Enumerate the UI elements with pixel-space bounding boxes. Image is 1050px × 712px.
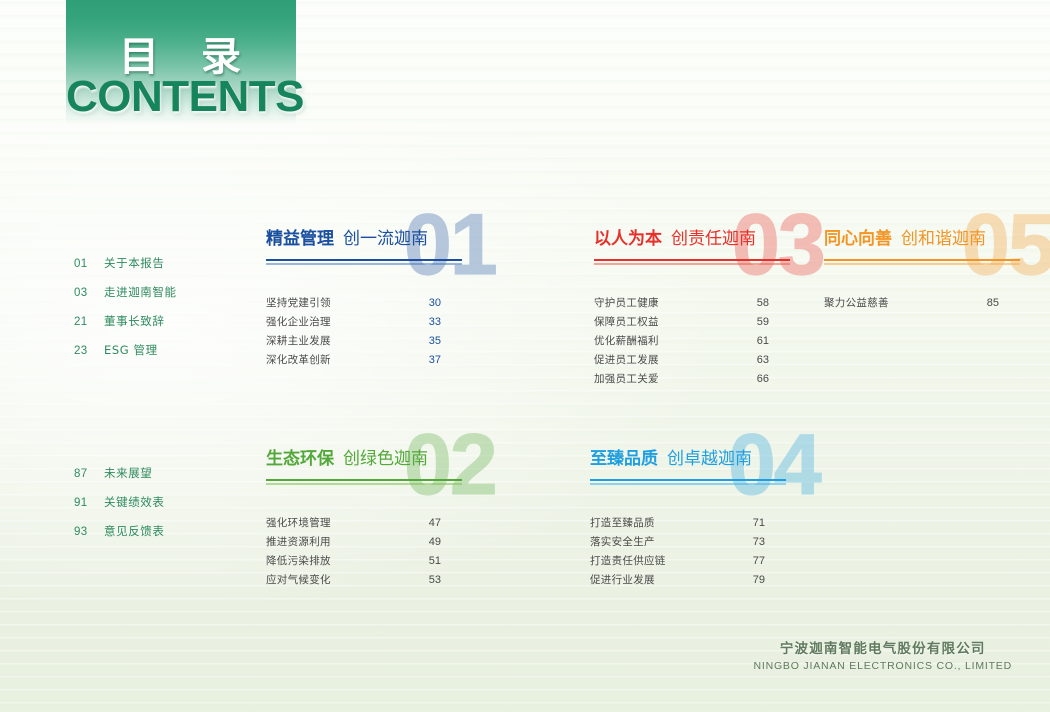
section-block-03: 03以人为本创责任迦南守护员工健康58保障员工权益59优化薪酬福利61促进员工发… [594,230,790,390]
toc-entry[interactable]: 87未来展望 [74,465,165,494]
section-item-page: 85 [965,297,999,309]
section-item-list: 聚力公益慈善85 [824,295,1020,314]
section-divider [594,259,790,265]
section-item-page: 63 [735,354,769,366]
section-item-page: 58 [735,297,769,309]
section-item[interactable]: 深化改革创新37 [266,352,441,371]
section-divider-line-top [824,259,1020,261]
toc-entry-page: 01 [74,258,104,270]
section-item-label: 坚持党建引领 [266,295,407,310]
section-divider-line-top [266,479,462,481]
section-item-page: 30 [407,297,441,309]
section-item[interactable]: 强化企业治理33 [266,314,441,333]
section-item-label: 促进行业发展 [590,572,731,587]
section-item-page: 33 [407,316,441,328]
section-item-label: 落实安全生产 [590,534,731,549]
section-item[interactable]: 聚力公益慈善85 [824,295,999,314]
section-divider-line-top [590,479,786,481]
section-item-label: 深化改革创新 [266,352,407,367]
section-block-02: 02生态环保创绿色迦南强化环境管理47推进资源利用49降低污染排放51应对气候变… [266,450,462,591]
section-item[interactable]: 坚持党建引领30 [266,295,441,314]
toc-entry-page: 21 [74,316,104,328]
section-item-list: 坚持党建引领30强化企业治理33深耕主业发展35深化改革创新37 [266,295,462,371]
section-item-page: 77 [731,555,765,567]
section-divider [824,259,1020,265]
section-item-label: 守护员工健康 [594,295,735,310]
section-divider-line-bottom [590,483,786,485]
section-item-page: 66 [735,373,769,385]
section-item-page: 59 [735,316,769,328]
section-block-01: 01精益管理创一流迦南坚持党建引领30强化企业治理33深耕主业发展35深化改革创… [266,230,462,371]
section-item-list: 强化环境管理47推进资源利用49降低污染排放51应对气候变化53 [266,515,462,591]
section-divider [590,479,786,485]
section-divider-line-top [266,259,462,261]
section-divider-line-top [594,259,790,261]
footer-company-cn: 宁波迦南智能电气股份有限公司 [753,637,1012,657]
section-item-page: 35 [407,335,441,347]
toc-entry[interactable]: 03走进迦南智能 [74,284,177,313]
section-item-page: 37 [407,354,441,366]
section-item-label: 深耕主业发展 [266,333,407,348]
section-block-05: 05同心向善创和谐迦南聚力公益慈善85 [824,230,1020,314]
toc-entry-label: 关键绩效表 [104,494,165,510]
toc-entry-label: ESG 管理 [104,342,158,358]
section-item[interactable]: 保障员工权益59 [594,314,769,333]
section-heading: 同心向善创和谐迦南 [824,230,1020,249]
toc-entry-label: 未来展望 [104,465,152,481]
section-heading: 生态环保创绿色迦南 [266,450,462,469]
section-block-04: 04至臻品质创卓越迦南打造至臻品质71落实安全生产73打造责任供应链77促进行业… [590,450,786,591]
section-item-label: 聚力公益慈善 [824,295,965,310]
section-divider-line-bottom [824,263,1020,265]
section-divider [266,479,462,485]
section-heading-lead: 至臻品质 [590,449,658,469]
section-item-label: 打造责任供应链 [590,553,731,568]
section-item-label: 推进资源利用 [266,534,407,549]
section-heading: 以人为本创责任迦南 [594,230,790,249]
section-item[interactable]: 促进行业发展79 [590,572,765,591]
section-heading-tail: 创责任迦南 [671,229,756,249]
toc-entry-label: 董事长致辞 [104,313,165,329]
section-item[interactable]: 打造至臻品质71 [590,515,765,534]
section-item-page: 79 [731,574,765,586]
toc-entry-page: 87 [74,468,104,480]
section-item-page: 61 [735,335,769,347]
section-item-page: 47 [407,517,441,529]
section-divider [266,259,462,265]
toc-entry-page: 93 [74,526,104,538]
section-item[interactable]: 打造责任供应链77 [590,553,765,572]
section-item-list: 守护员工健康58保障员工权益59优化薪酬福利61促进员工发展63加强员工关爱66 [594,295,790,390]
section-item-page: 49 [407,536,441,548]
section-item-label: 打造至臻品质 [590,515,731,530]
section-divider-line-bottom [266,263,462,265]
section-heading-tail: 创绿色迦南 [343,449,428,469]
section-divider-line-bottom [266,483,462,485]
section-item-label: 应对气候变化 [266,572,407,587]
section-heading: 至臻品质创卓越迦南 [590,450,786,469]
section-item[interactable]: 促进员工发展63 [594,352,769,371]
section-heading-tail: 创卓越迦南 [667,449,752,469]
section-item-label: 加强员工关爱 [594,371,735,386]
toc-entry-label: 关于本报告 [104,255,165,271]
section-item-page: 51 [407,555,441,567]
section-item-label: 促进员工发展 [594,352,735,367]
footer: 宁波迦南智能电气股份有限公司 NINGBO JIANAN ELECTRONICS… [753,637,1012,672]
toc-entry[interactable]: 21董事长致辞 [74,313,177,342]
section-item-label: 强化企业治理 [266,314,407,329]
section-heading-lead: 生态环保 [266,449,334,469]
section-item-page: 71 [731,517,765,529]
section-heading-lead: 精益管理 [266,229,334,249]
toc-entry-label: 意见反馈表 [104,523,165,539]
section-item-page: 53 [407,574,441,586]
section-item-page: 73 [731,536,765,548]
section-item-label: 强化环境管理 [266,515,407,530]
section-heading: 精益管理创一流迦南 [266,230,462,249]
toc-entry[interactable]: 23ESG 管理 [74,342,177,371]
toc-entry-page: 91 [74,497,104,509]
section-item-label: 降低污染排放 [266,553,407,568]
section-heading-lead: 以人为本 [594,229,662,249]
section-item[interactable]: 优化薪酬福利61 [594,333,769,352]
back-matter-list: 87未来展望91关键绩效表93意见反馈表 [74,465,165,552]
section-heading-tail: 创和谐迦南 [901,229,986,249]
section-item[interactable]: 推进资源利用49 [266,534,441,553]
front-matter-list: 01关于本报告03走进迦南智能21董事长致辞23ESG 管理 [74,255,177,371]
section-item[interactable]: 应对气候变化53 [266,572,441,591]
section-item[interactable]: 加强员工关爱66 [594,371,769,390]
toc-entry[interactable]: 01关于本报告 [74,255,177,284]
toc-entry-page: 03 [74,287,104,299]
toc-entry[interactable]: 93意见反馈表 [74,523,165,552]
toc-entry-page: 23 [74,345,104,357]
toc-entry-label: 走进迦南智能 [104,284,177,300]
section-item[interactable]: 强化环境管理47 [266,515,441,534]
section-divider-line-bottom [594,263,790,265]
section-item[interactable]: 降低污染排放51 [266,553,441,572]
section-item-label: 保障员工权益 [594,314,735,329]
section-item[interactable]: 深耕主业发展35 [266,333,441,352]
section-heading-lead: 同心向善 [824,229,892,249]
section-item[interactable]: 落实安全生产73 [590,534,765,553]
toc-entry[interactable]: 91关键绩效表 [74,494,165,523]
section-item[interactable]: 守护员工健康58 [594,295,769,314]
section-heading-tail: 创一流迦南 [343,229,428,249]
section-item-list: 打造至臻品质71落实安全生产73打造责任供应链77促进行业发展79 [590,515,786,591]
banner-title-en: CONTENTS [66,72,304,122]
section-item-label: 优化薪酬福利 [594,333,735,348]
footer-company-en: NINGBO JIANAN ELECTRONICS CO., LIMITED [753,660,1012,672]
